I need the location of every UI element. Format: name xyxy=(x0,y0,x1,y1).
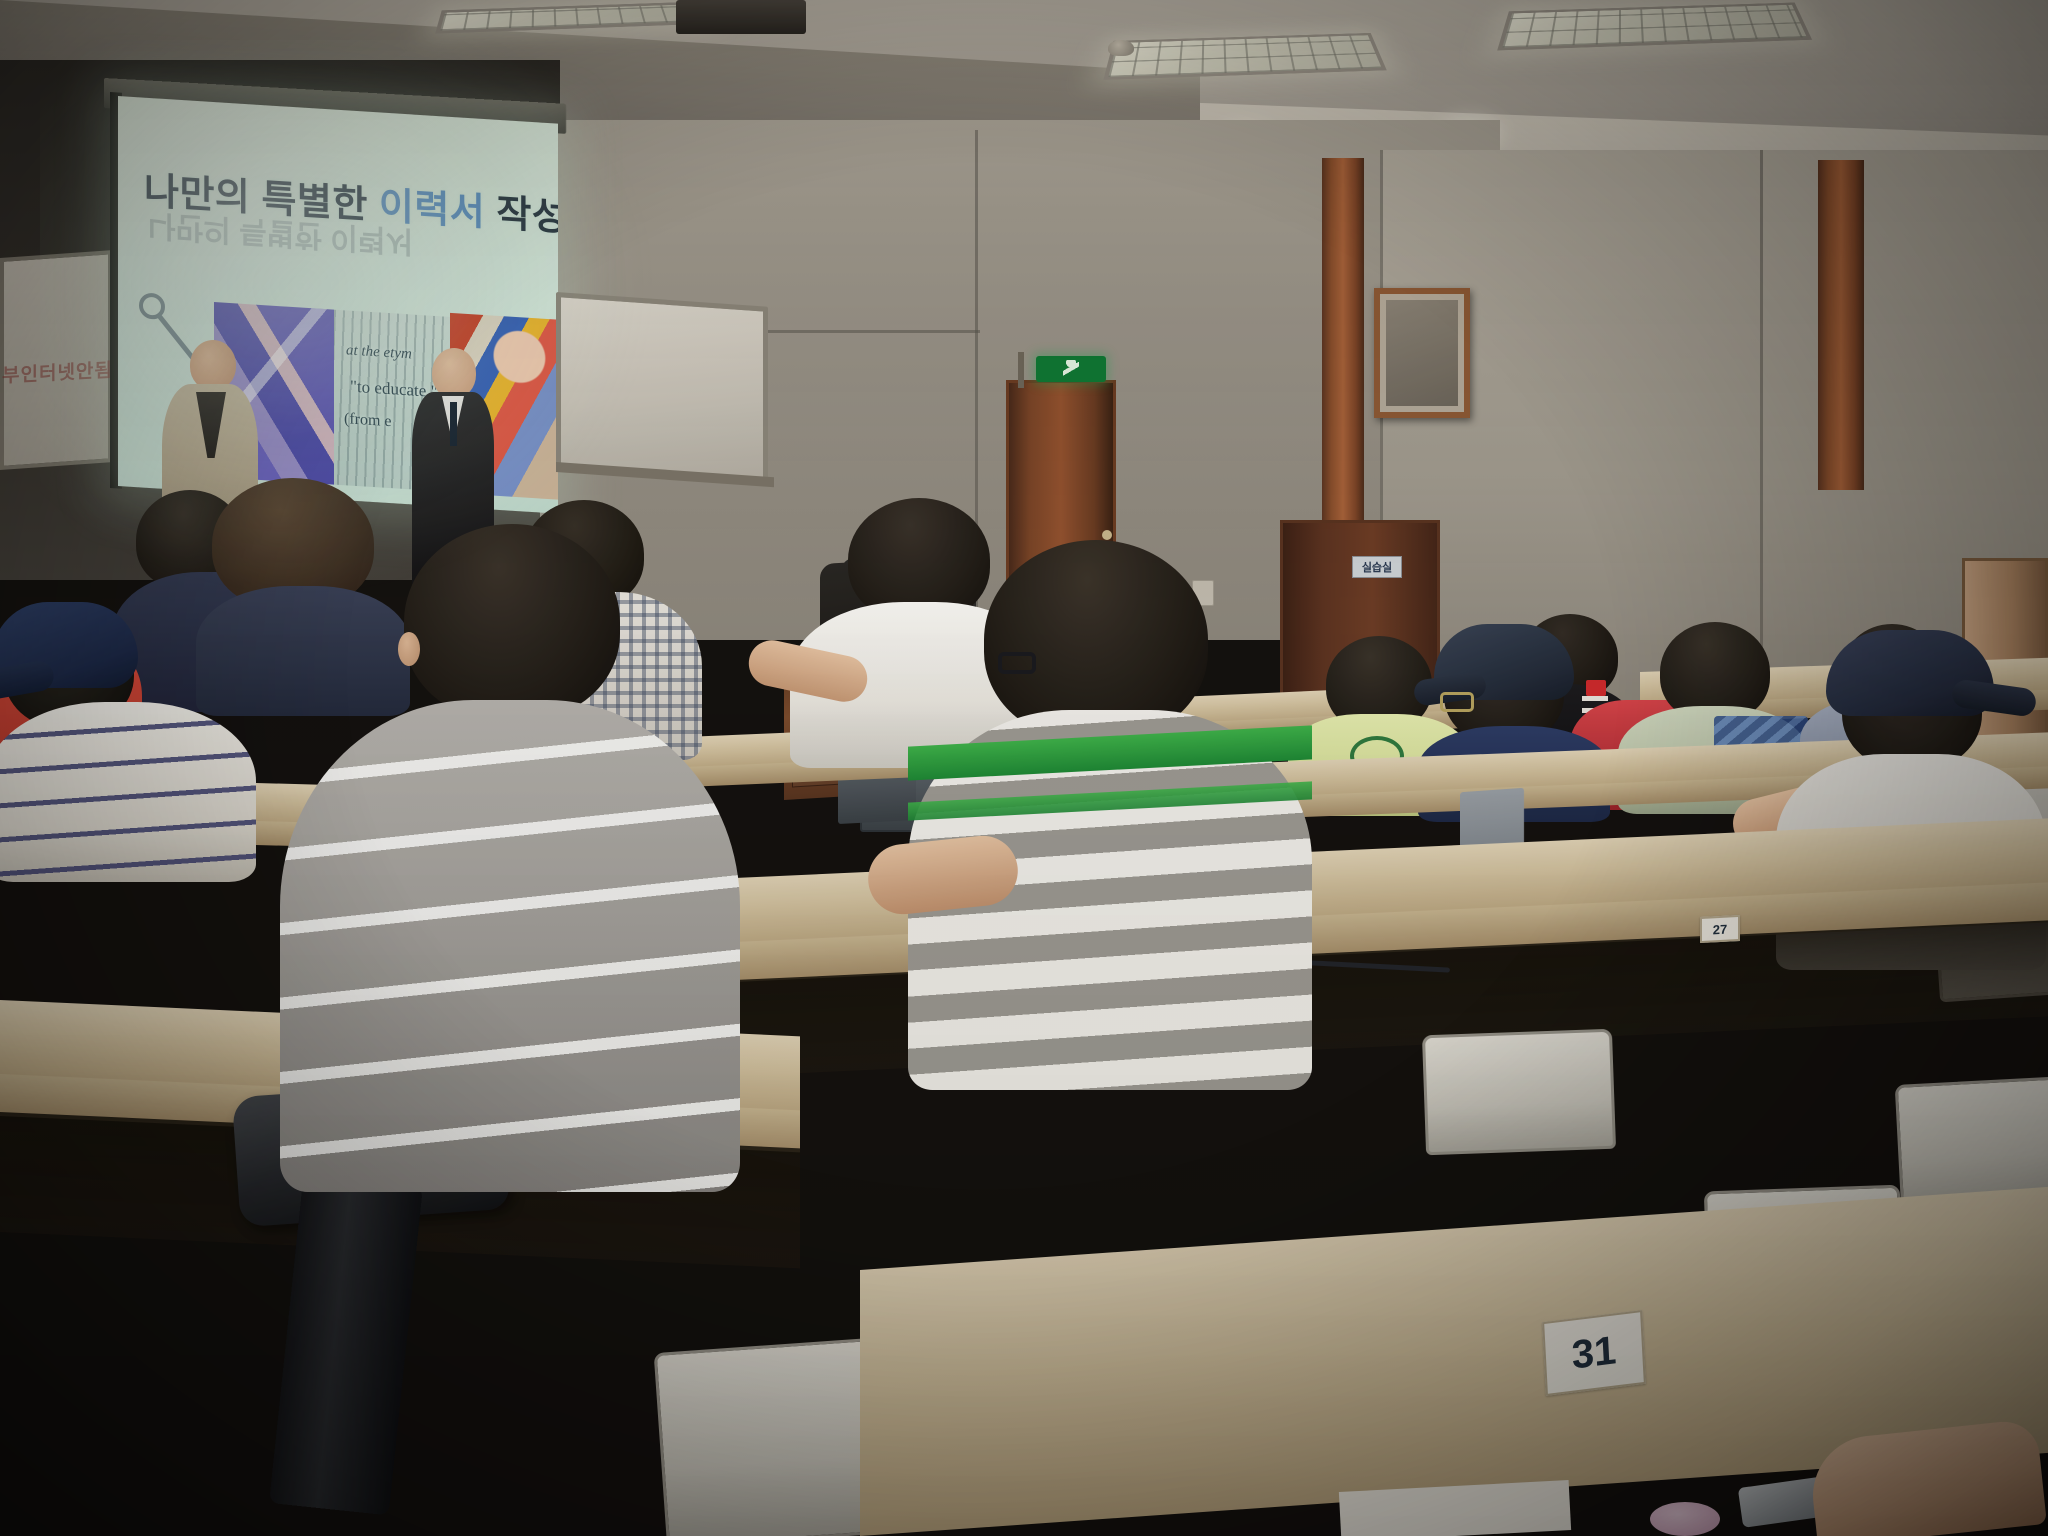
desk-number-label-31: 31 xyxy=(1542,1310,1646,1396)
door-room-sign: 실습실 xyxy=(1352,556,1402,578)
foreground-student-grey-stripes xyxy=(280,524,740,1184)
whiteboard xyxy=(556,292,768,485)
air-vent-icon xyxy=(676,0,806,34)
wall-seam xyxy=(1760,150,1763,670)
foreground-student-green-stripes xyxy=(880,540,1320,1080)
exit-sign xyxy=(1036,356,1106,382)
chair[interactable] xyxy=(1422,1029,1616,1156)
slide-word-line3: (from e xyxy=(344,410,392,431)
pink-keychain xyxy=(1650,1502,1720,1536)
wood-pilaster xyxy=(1818,160,1864,490)
smoke-detector-icon xyxy=(1108,40,1134,56)
front-left-student-cap xyxy=(0,610,256,880)
door-knob-icon[interactable] xyxy=(1102,530,1112,540)
wall-picture-frame xyxy=(1374,288,1470,418)
exit-sign-bracket xyxy=(1018,352,1024,388)
classroom-photo: 부인터넷안됨 나만의 특별한 이력서 작성법 나만의 특별한 이력서 at th… xyxy=(0,0,2048,1536)
desk-number-label: 27 xyxy=(1700,915,1740,943)
running-man-icon xyxy=(1063,360,1079,378)
